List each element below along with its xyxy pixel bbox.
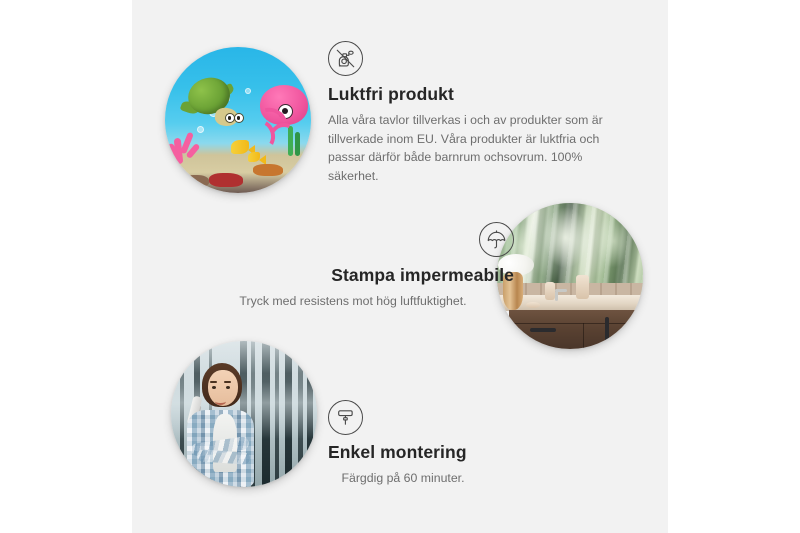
feature-text-easy-installation: Enkel montering Färgdig på 60 minuter. xyxy=(328,442,608,488)
feature-text-waterproof-print: Stampa impermeabile Tryck med resistens … xyxy=(192,265,514,311)
feature-title: Stampa impermeabile xyxy=(192,265,514,287)
woman-paint-roller-forest-circle-image xyxy=(171,341,317,487)
content-panel: Luktfri produkt Alla våra tavlor tillver… xyxy=(132,0,668,533)
no-fragrance-icon xyxy=(328,41,363,76)
feature-description: Tryck med resistens mot hög luftfuktighe… xyxy=(192,292,514,311)
feature-description: Alla våra tavlor tillverkas i och av pro… xyxy=(328,111,636,186)
umbrella-icon xyxy=(479,222,514,257)
paint-roller-icon xyxy=(328,400,363,435)
underwater-cartoon-circle-image xyxy=(165,47,311,193)
feature-description: Färgdig på 60 minuter. xyxy=(328,469,478,488)
bathroom-botanical-wallpaper-circle-image xyxy=(497,203,643,349)
feature-text-odour-free: Luktfri produkt Alla våra tavlor tillver… xyxy=(328,84,636,186)
product-feature-infographic: Luktfri produkt Alla våra tavlor tillver… xyxy=(0,0,800,533)
feature-title: Enkel montering xyxy=(328,442,608,464)
feature-title: Luktfri produkt xyxy=(328,84,636,106)
